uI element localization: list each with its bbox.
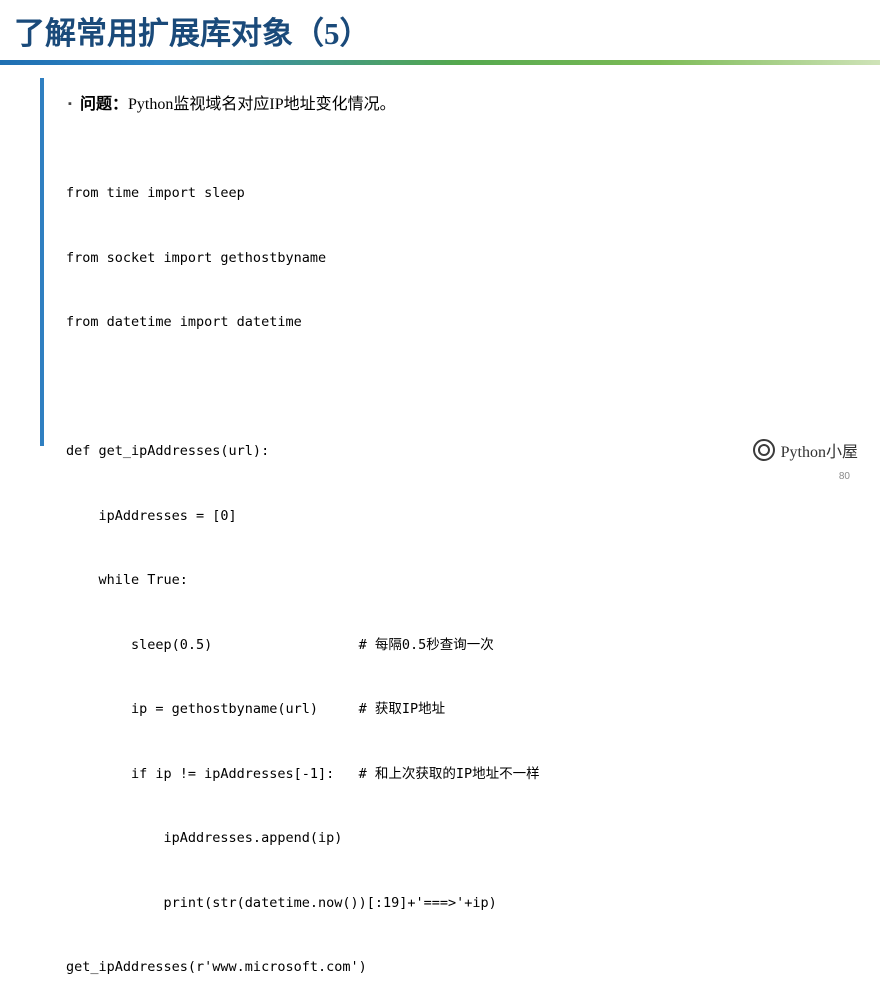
code-line [66,377,826,399]
code-line: from time import sleep [66,183,826,205]
code-line: from datetime import datetime [66,312,826,334]
code-line: from socket import gethostbyname [66,248,826,270]
footer-logo-text: Python小屋 [781,438,858,462]
code-line: if ip != ipAddresses[-1]: # 和上次获取的IP地址不一… [66,764,826,786]
footer-logo: Python小屋 [753,438,858,462]
code-line: def get_ipAddresses(url): [66,441,826,463]
slide: 了解常用扩展库对象（5） ▪问题：Python监视域名对应IP地址变化情况。 f… [0,0,880,492]
page-title: 了解常用扩展库对象（5） [14,8,371,53]
circle-logo-icon [753,439,775,461]
page-number: 80 [839,471,850,482]
bullet-text: Python监视域名对应IP地址变化情况。 [128,96,396,113]
code-line: print(str(datetime.now())[:19]+'===>'+ip… [66,893,826,915]
code-line: ipAddresses.append(ip) [66,828,826,850]
bullet-marker-icon: ▪ [68,98,80,110]
code-line: get_ipAddresses(r'www.microsoft.com') [66,957,826,979]
bullet-item: ▪问题：Python监视域名对应IP地址变化情况。 [68,90,808,114]
title-divider [0,60,880,65]
content-body: ▪问题：Python监视域名对应IP地址变化情况。 from time impo… [40,78,840,446]
code-line: ip = gethostbyname(url) # 获取IP地址 [66,699,826,721]
title-block: 了解常用扩展库对象（5） [0,0,880,62]
left-accent-bar [40,78,44,446]
code-line: ipAddresses = [0] [66,506,826,528]
code-line: sleep(0.5) # 每隔0.5秒查询一次 [66,635,826,657]
bullet-label: 问题： [80,96,128,113]
code-block: from time import sleep from socket impor… [66,140,826,984]
code-line: while True: [66,570,826,592]
